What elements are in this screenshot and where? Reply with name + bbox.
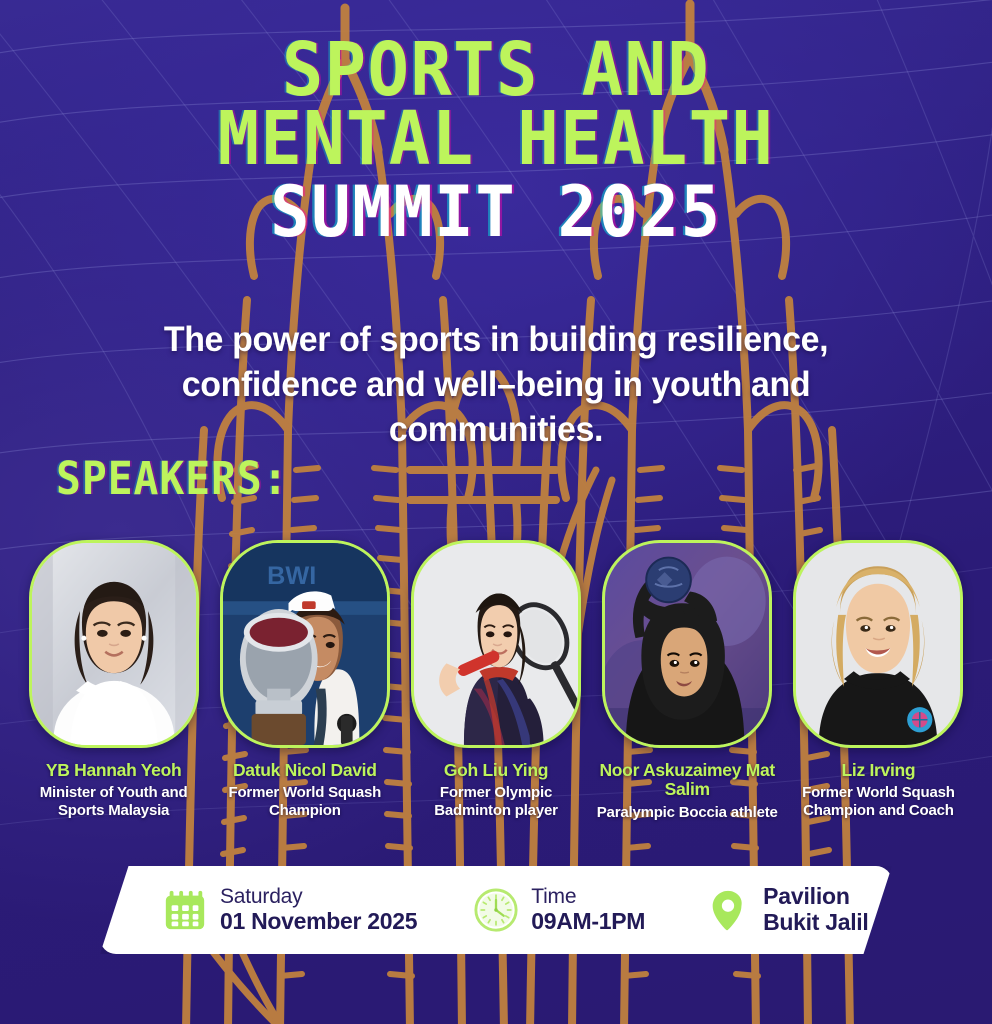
speaker-photo-frame bbox=[29, 540, 199, 748]
speaker-card: Liz Irving Former World Squash Champion … bbox=[787, 540, 970, 819]
poster-title-block: SPORTS AND MENTAL HEALTH SUMMIT 2025 bbox=[0, 36, 992, 245]
speaker-card: Goh Liu Ying Former Olympic Badminton pl… bbox=[404, 540, 587, 819]
speaker-role: Minister of Youth and Sports Malaysia bbox=[22, 784, 205, 819]
speaker-photo-frame: BWI bbox=[220, 540, 390, 748]
calendar-icon bbox=[162, 887, 208, 933]
speakers-row: YB Hannah Yeoh Minister of Youth and Spo… bbox=[0, 540, 992, 821]
speaker-role: Paralympic Boccia athlete bbox=[596, 804, 779, 822]
portrait-nicol-david-trophy: BWI bbox=[223, 543, 387, 745]
speaker-name: Liz Irving bbox=[787, 761, 970, 780]
location-pin-icon bbox=[705, 887, 751, 933]
speaker-card: Noor Askuzaimey Mat Salim Paralympic Boc… bbox=[596, 540, 779, 821]
speaker-card: BWI bbox=[213, 540, 396, 819]
speaker-role: Former World Squash Champion bbox=[213, 784, 396, 819]
event-time-item: Time 09AM-1PM bbox=[469, 885, 649, 934]
event-date-value: 01 November 2025 bbox=[220, 908, 417, 934]
speaker-card: YB Hannah Yeoh Minister of Youth and Spo… bbox=[22, 540, 205, 819]
event-date-label: Saturday bbox=[220, 885, 302, 908]
speaker-name: Goh Liu Ying bbox=[404, 761, 587, 780]
speaker-photo-frame bbox=[411, 540, 581, 748]
svg-text:BWI: BWI bbox=[267, 562, 316, 590]
speaker-role: Former Olympic Badminton player bbox=[404, 784, 587, 819]
poster-subtitle: The power of sports in building resilien… bbox=[75, 318, 917, 452]
event-time-value: 09AM-1PM bbox=[531, 908, 645, 934]
event-date-item: Saturday 01 November 2025 bbox=[158, 885, 421, 934]
portrait-hannah-yeoh bbox=[32, 543, 196, 745]
speaker-photo-frame bbox=[793, 540, 963, 748]
event-time-label: Time bbox=[531, 885, 576, 908]
event-poster: SPORTS AND MENTAL HEALTH SUMMIT 2025 The… bbox=[0, 0, 992, 1024]
event-venue-value: Bukit Jalil bbox=[763, 909, 868, 935]
speaker-role: Former World Squash Champion and Coach bbox=[787, 784, 970, 819]
portrait-noor-askuzaimey-boccia bbox=[605, 543, 769, 745]
title-line-2: MENTAL HEALTH bbox=[35, 105, 958, 174]
speakers-heading: SPEAKERS: bbox=[56, 452, 289, 505]
event-venue-item: Pavilion Bukit Jalil bbox=[701, 884, 872, 936]
event-venue-label: Pavilion bbox=[763, 883, 850, 909]
title-line-1: SPORTS AND bbox=[35, 36, 958, 105]
speaker-name: Datuk Nicol David bbox=[213, 761, 396, 780]
portrait-goh-liu-ying-racket bbox=[414, 543, 578, 745]
event-info-bar: Saturday 01 November 2025 bbox=[100, 866, 892, 954]
title-summit: SUMMIT 2025 bbox=[35, 180, 958, 245]
speaker-name: YB Hannah Yeoh bbox=[22, 761, 205, 780]
portrait-liz-irving bbox=[796, 543, 960, 745]
clock-icon bbox=[473, 887, 519, 933]
speaker-name: Noor Askuzaimey Mat Salim bbox=[596, 761, 779, 800]
speaker-photo-frame bbox=[602, 540, 772, 748]
